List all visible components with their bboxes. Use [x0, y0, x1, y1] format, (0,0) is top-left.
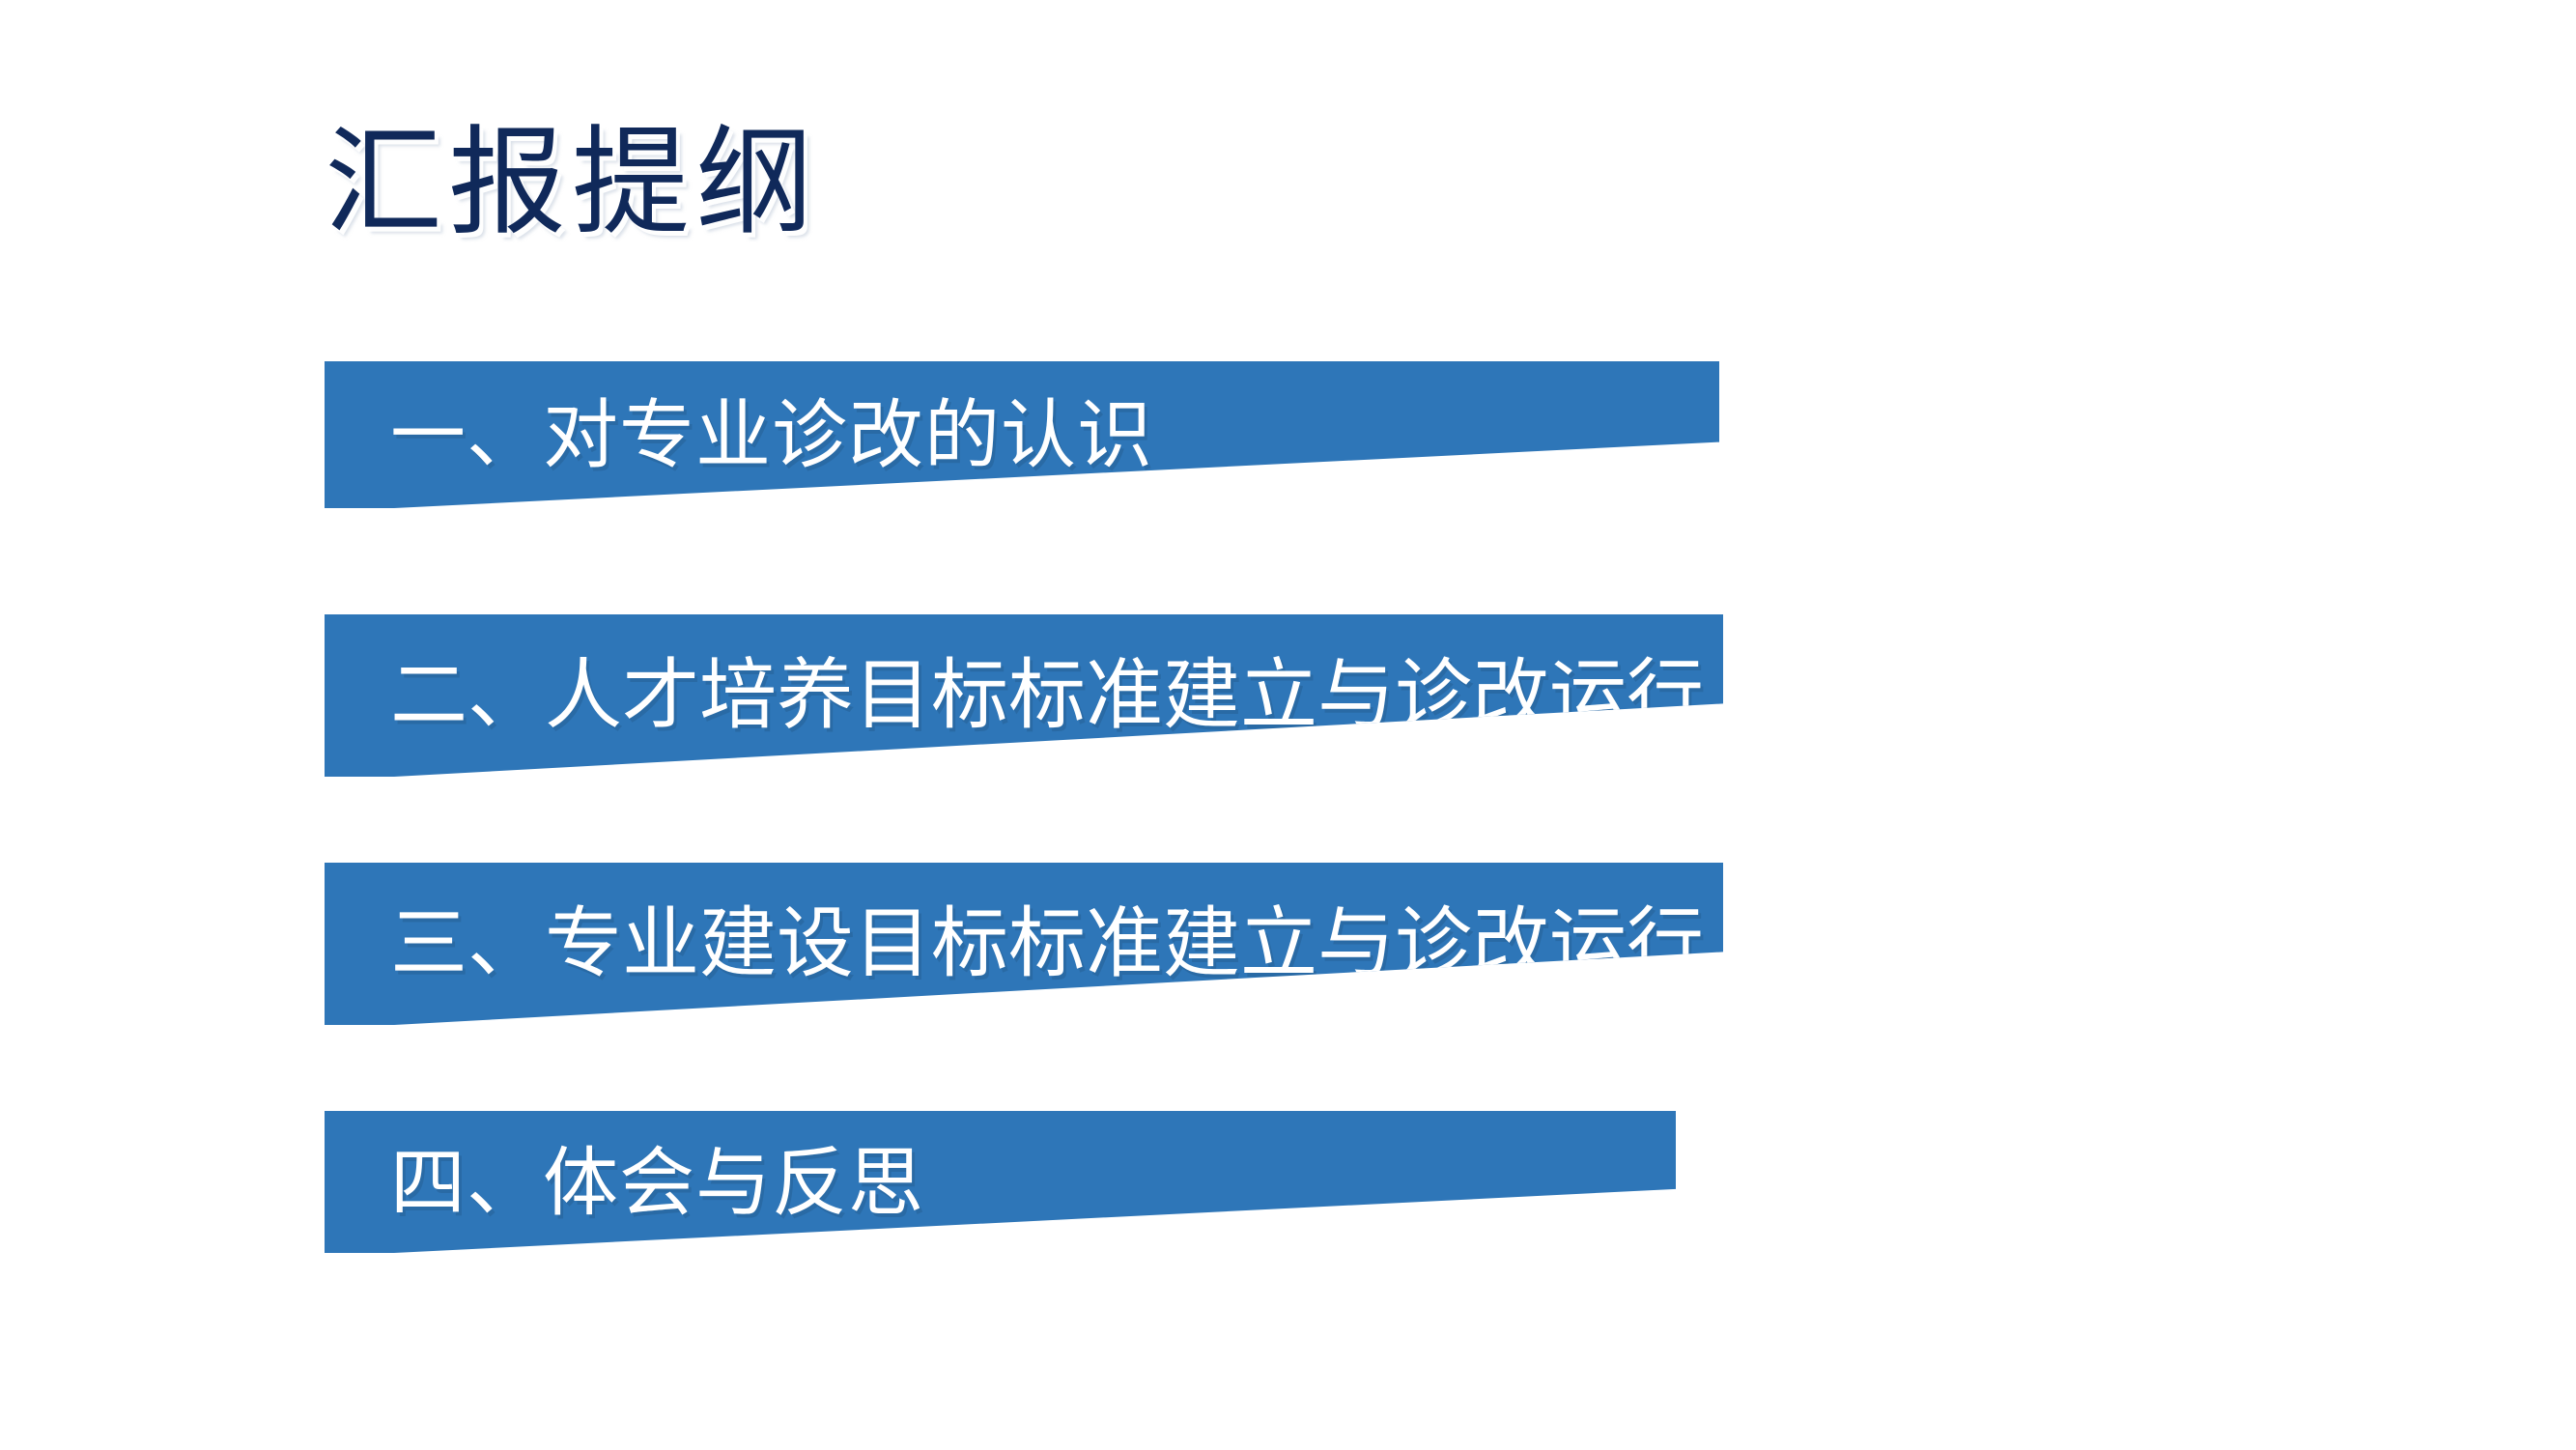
outline-item-3-label: 三、专业建设目标标准建立与诊改运行 [325, 905, 1704, 982]
outline-banner-list: 一、对专业诊改的认识 二、人才培养目标标准建立与诊改运行 三、专业建设目标标准建… [0, 0, 2576, 1450]
outline-item-1-label: 一、对专业诊改的认识 [325, 397, 1153, 472]
outline-item-2[interactable]: 二、人才培养目标标准建立与诊改运行 [325, 614, 1723, 777]
outline-item-4-label: 四、体会与反思 [325, 1145, 924, 1220]
outline-item-3[interactable]: 三、专业建设目标标准建立与诊改运行 [325, 863, 1723, 1025]
outline-item-2-label: 二、人才培养目标标准建立与诊改运行 [325, 657, 1704, 734]
outline-item-4[interactable]: 四、体会与反思 [325, 1111, 1676, 1253]
outline-item-1[interactable]: 一、对专业诊改的认识 [325, 361, 1719, 508]
presentation-slide: 汇报提纲 一、对专业诊改的认识 二、人才培养目标标准建立与诊改运行 三、专业建设… [0, 0, 2576, 1450]
